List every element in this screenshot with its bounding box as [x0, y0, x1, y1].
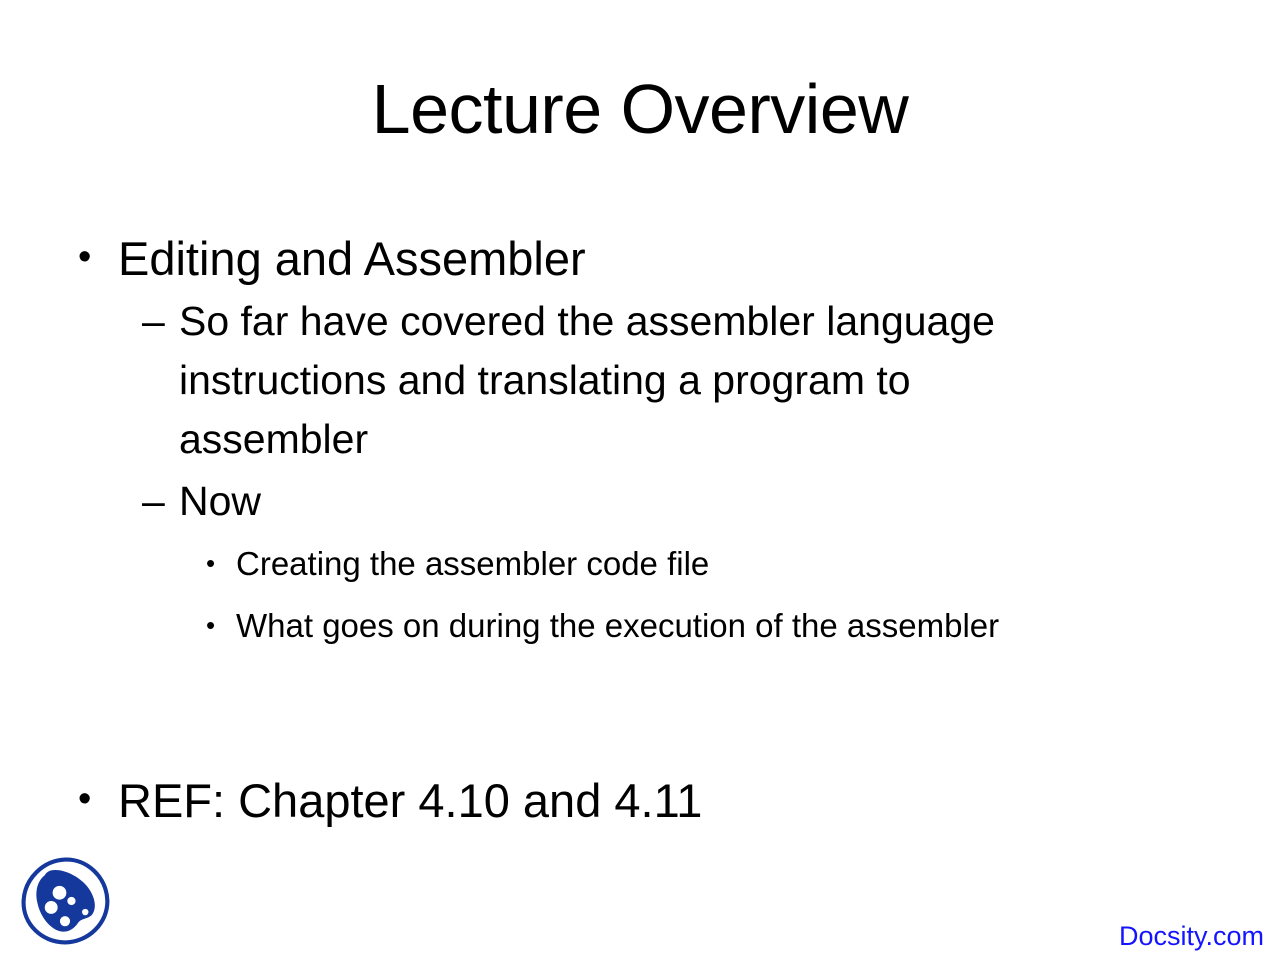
- bullet-level3-label: What goes on during the execution of the…: [236, 595, 999, 656]
- bullet-level1-reference: • REF: Chapter 4.10 and 4.11: [0, 774, 1280, 828]
- docsity-watermark: Docsity.com: [1119, 922, 1264, 952]
- docsity-logo: [19, 855, 111, 947]
- bullet-level3-whatgoeson: • What goes on during the execution of t…: [0, 595, 1280, 656]
- bullet-level3-creating: • Creating the assembler code file: [0, 533, 1280, 594]
- bullet-level3-label: Creating the assembler code file: [236, 533, 709, 594]
- dash-marker-icon: –: [142, 292, 179, 351]
- reference-label: REF: Chapter 4.10 and 4.11: [118, 774, 702, 828]
- bullet-level2-label: Now: [179, 472, 261, 531]
- bullet-marker-icon: •: [78, 232, 118, 282]
- dash-marker-icon: –: [142, 472, 179, 531]
- slide-body: • Editing and Assembler – So far have co…: [0, 232, 1280, 656]
- bullet-marker-icon: •: [206, 533, 236, 594]
- bullet-marker-icon: •: [78, 774, 118, 824]
- slide-canvas: Lecture Overview • Editing and Assembler…: [0, 0, 1280, 960]
- bullet-level2-now: – Now: [0, 472, 1280, 531]
- bullet-level2-label: So far have covered the assembler langua…: [179, 292, 1067, 470]
- bullet-level2-sofar: – So far have covered the assembler lang…: [0, 292, 1280, 470]
- bullet-level1-label: Editing and Assembler: [118, 232, 1178, 286]
- bullet-level1-editing: • Editing and Assembler: [0, 232, 1280, 286]
- bullet-marker-icon: •: [206, 595, 236, 656]
- page-title: Lecture Overview: [0, 74, 1280, 144]
